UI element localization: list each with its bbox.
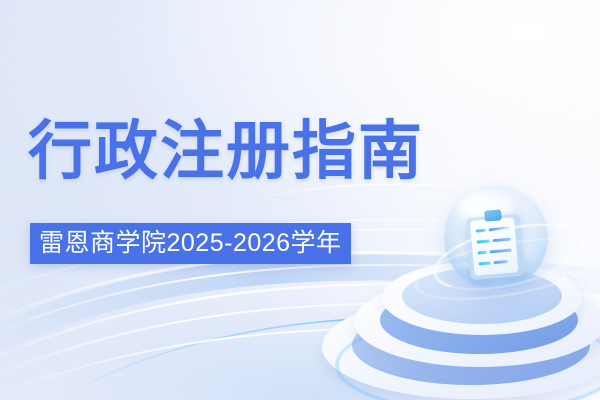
banner-subtitle-bar: 雷恩商学院2025-2026学年 [30,223,351,264]
banner-subtitle-text: 雷恩商学院2025-2026学年 [39,231,342,256]
banner-title: 行政注册指南 [28,119,424,183]
clipboard-line [476,229,486,233]
registration-guide-banner: 行政注册指南 雷恩商学院2025-2026学年 [0,0,600,400]
clipboard-clip [484,209,502,221]
